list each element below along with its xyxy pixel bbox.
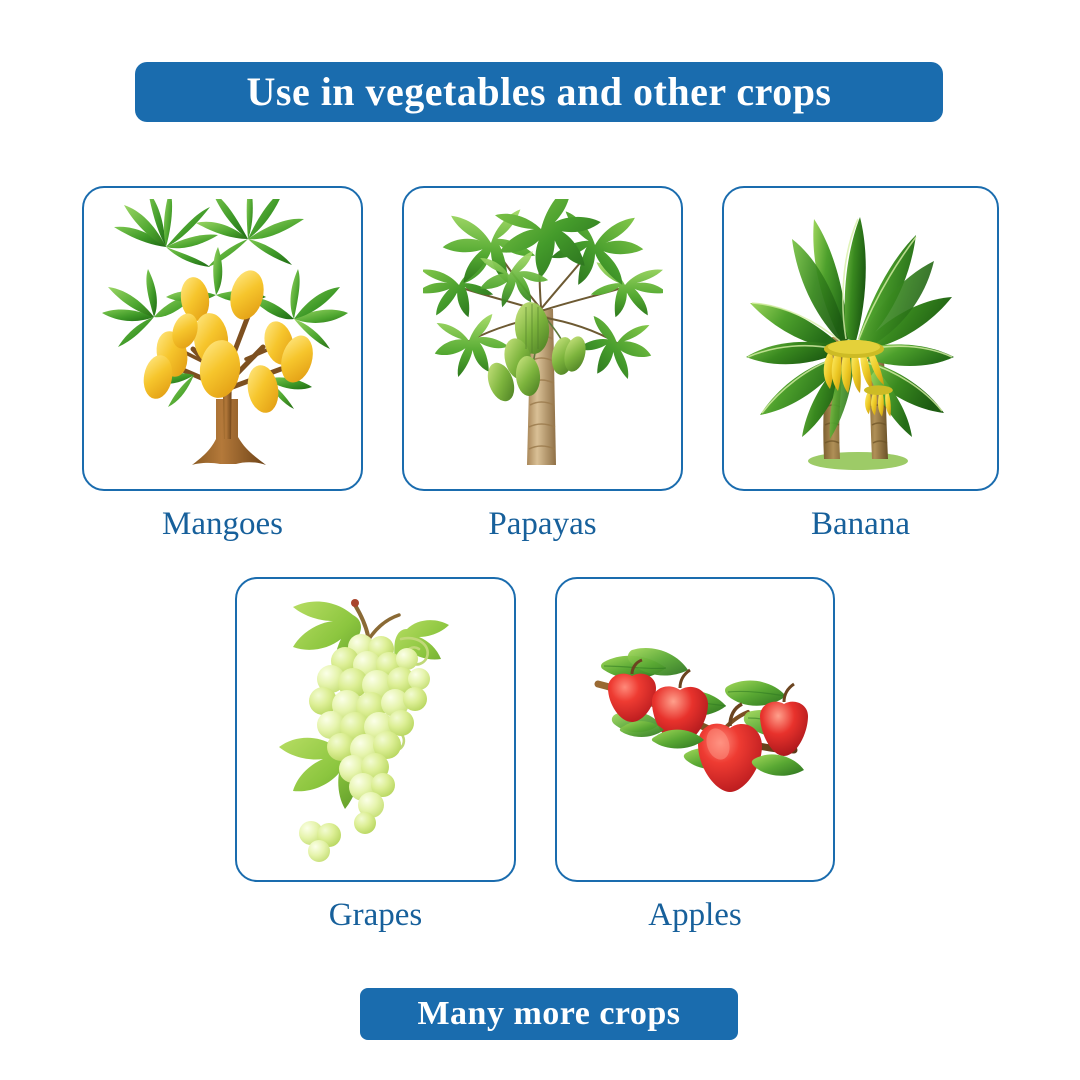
papaya-tree-icon bbox=[423, 199, 663, 479]
crop-card-grapes[interactable] bbox=[235, 577, 516, 882]
crop-label-papayas: Papayas bbox=[402, 502, 683, 546]
mango-tree-icon bbox=[98, 199, 348, 479]
crops-infographic: Use in vegetables and other crops bbox=[0, 0, 1080, 1080]
crop-label-banana: Banana bbox=[722, 502, 999, 546]
apple-branch-icon bbox=[570, 640, 820, 820]
banana-ground bbox=[808, 452, 908, 470]
papaya-fruits bbox=[482, 300, 588, 405]
crop-card-papayas[interactable] bbox=[402, 186, 683, 491]
grape-bunch-icon bbox=[261, 587, 491, 872]
mango-fruits bbox=[140, 266, 318, 414]
crop-label-apples: Apples bbox=[555, 893, 835, 937]
crop-label-grapes: Grapes bbox=[235, 893, 516, 937]
crop-card-mangoes[interactable] bbox=[82, 186, 363, 491]
crop-card-apples[interactable] bbox=[555, 577, 835, 882]
banana-plant-icon bbox=[736, 199, 986, 479]
crop-card-banana[interactable] bbox=[722, 186, 999, 491]
footer-banner: Many more crops bbox=[360, 988, 738, 1040]
crop-label-mangoes: Mangoes bbox=[82, 502, 363, 546]
header-banner: Use in vegetables and other crops bbox=[135, 62, 943, 122]
banana-foliage bbox=[746, 217, 954, 439]
